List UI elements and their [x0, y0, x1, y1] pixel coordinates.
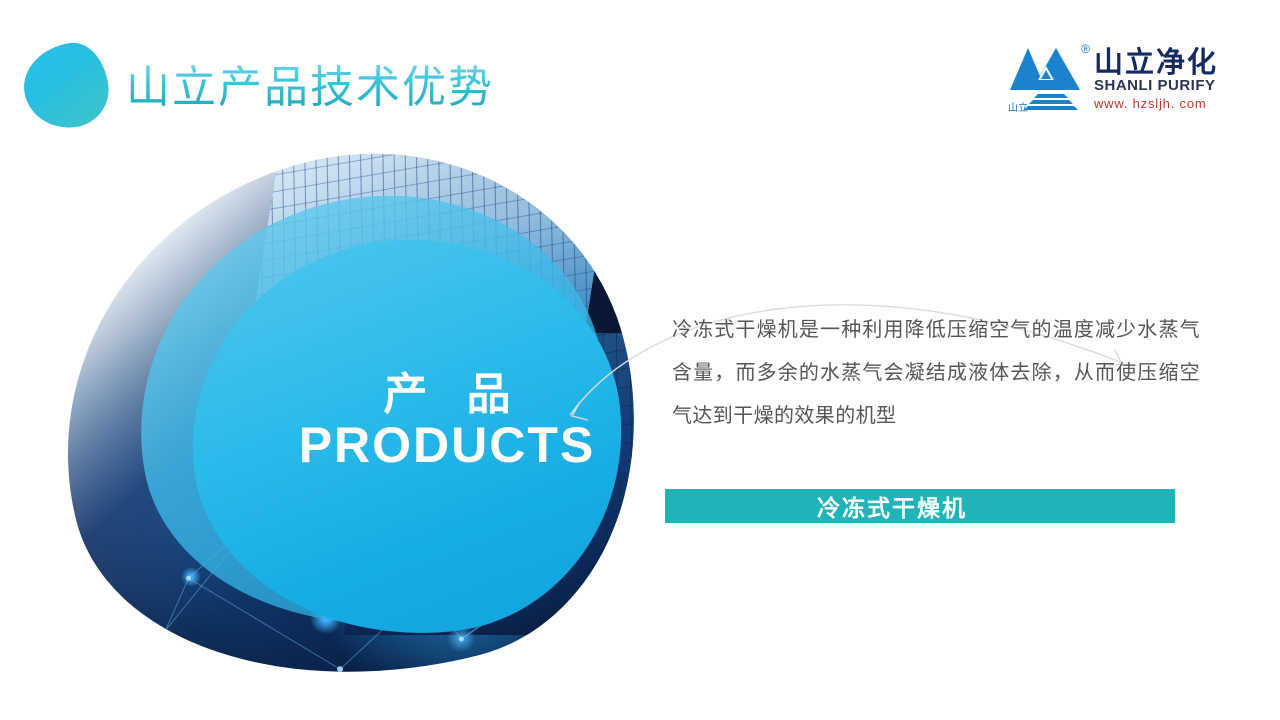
product-name-banner[interactable]: 冷冻式干燥机 — [665, 489, 1175, 523]
logo-company-cn: 山立净化 — [1094, 48, 1218, 77]
logo-mark-caption: 山立 — [1008, 99, 1028, 114]
page-title: 山立产品技术优势 — [126, 62, 494, 115]
registered-trademark-icon: ® — [1081, 42, 1090, 56]
blob-icon — [19, 39, 114, 134]
logo-website: www. hzsljh. com — [1094, 96, 1218, 113]
slide: 山立产品技术优势 ® 山立 山立净化 SHANLI PURIFY www. hz… — [0, 0, 1280, 720]
brand-logo: ® 山立 山立净化 SHANLI PURIFY www. hzsljh. com — [1008, 40, 1218, 114]
logo-company-en: SHANLI PURIFY — [1094, 77, 1218, 96]
product-description: 冷冻式干燥机是一种利用降低压缩空气的温度减少水蒸气含量，而多余的水蒸气会凝结成液… — [672, 308, 1200, 437]
mountain-peaks-icon: ® 山立 — [1008, 40, 1086, 114]
product-graphic: 产 品 PRODUCTS — [52, 152, 652, 692]
product-name-label: 冷冻式干燥机 — [817, 489, 967, 523]
logo-text-block: 山立净化 SHANLI PURIFY www. hzsljh. com — [1094, 40, 1218, 113]
